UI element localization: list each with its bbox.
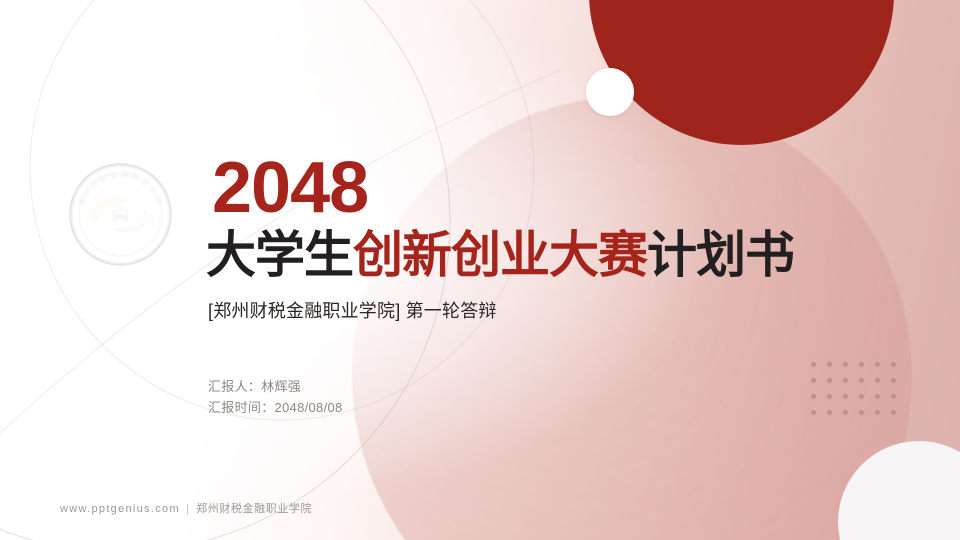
headline-part-3: 计划书 — [647, 227, 794, 283]
grid-dot — [875, 394, 880, 399]
grid-dot — [827, 378, 832, 383]
grid-dot — [875, 362, 880, 367]
presenter-name: 汇报人：林辉强 — [208, 376, 826, 397]
grid-dot — [891, 378, 896, 383]
grid-dot — [827, 410, 832, 415]
footer-separator: | — [186, 503, 190, 515]
headline-part-2-accent: 创新创业大赛 — [353, 227, 647, 283]
page-title: 大学生创新创业大赛计划书 — [206, 226, 826, 284]
college-seal-logo: 郑州财税金融职业学院 ZHENGZHOU VOCATIONAL COLLEGE … — [68, 162, 173, 267]
footer: www.pptgenius.com|郑州财税金融职业学院 — [60, 500, 312, 516]
grid-dot — [859, 394, 864, 399]
grid-dot — [875, 378, 880, 383]
grid-dot — [891, 410, 896, 415]
grid-dot — [859, 410, 864, 415]
grid-dot — [875, 410, 880, 415]
presentation-title-slide: 郑州财税金融职业学院 ZHENGZHOU VOCATIONAL COLLEGE … — [0, 0, 960, 540]
grid-dot — [843, 378, 848, 383]
footer-institution: 郑州财税金融职业学院 — [196, 503, 312, 515]
grid-dot — [843, 362, 848, 367]
presentation-date: 汇报时间：2048/08/08 — [208, 397, 826, 418]
decorative-white-dot-circle — [586, 68, 634, 116]
grid-dot — [843, 394, 848, 399]
logo-halo — [58, 152, 183, 277]
grid-dot — [891, 362, 896, 367]
grid-dot — [859, 362, 864, 367]
title-text-block: 2048 大学生创新创业大赛计划书 [郑州财税金融职业学院] 第一轮答辩 汇报人… — [206, 152, 826, 418]
grid-dot — [827, 394, 832, 399]
presenter-meta: 汇报人：林辉强 汇报时间：2048/08/08 — [208, 376, 826, 418]
footer-website: www.pptgenius.com — [60, 503, 180, 515]
headline-part-1: 大学生 — [206, 227, 353, 283]
subtitle: [郑州财税金融职业学院] 第一轮答辩 — [208, 298, 826, 324]
grid-dot — [827, 362, 832, 367]
grid-dot — [859, 378, 864, 383]
grid-dot — [891, 394, 896, 399]
grid-dot — [843, 410, 848, 415]
year-number: 2048 — [212, 152, 826, 224]
